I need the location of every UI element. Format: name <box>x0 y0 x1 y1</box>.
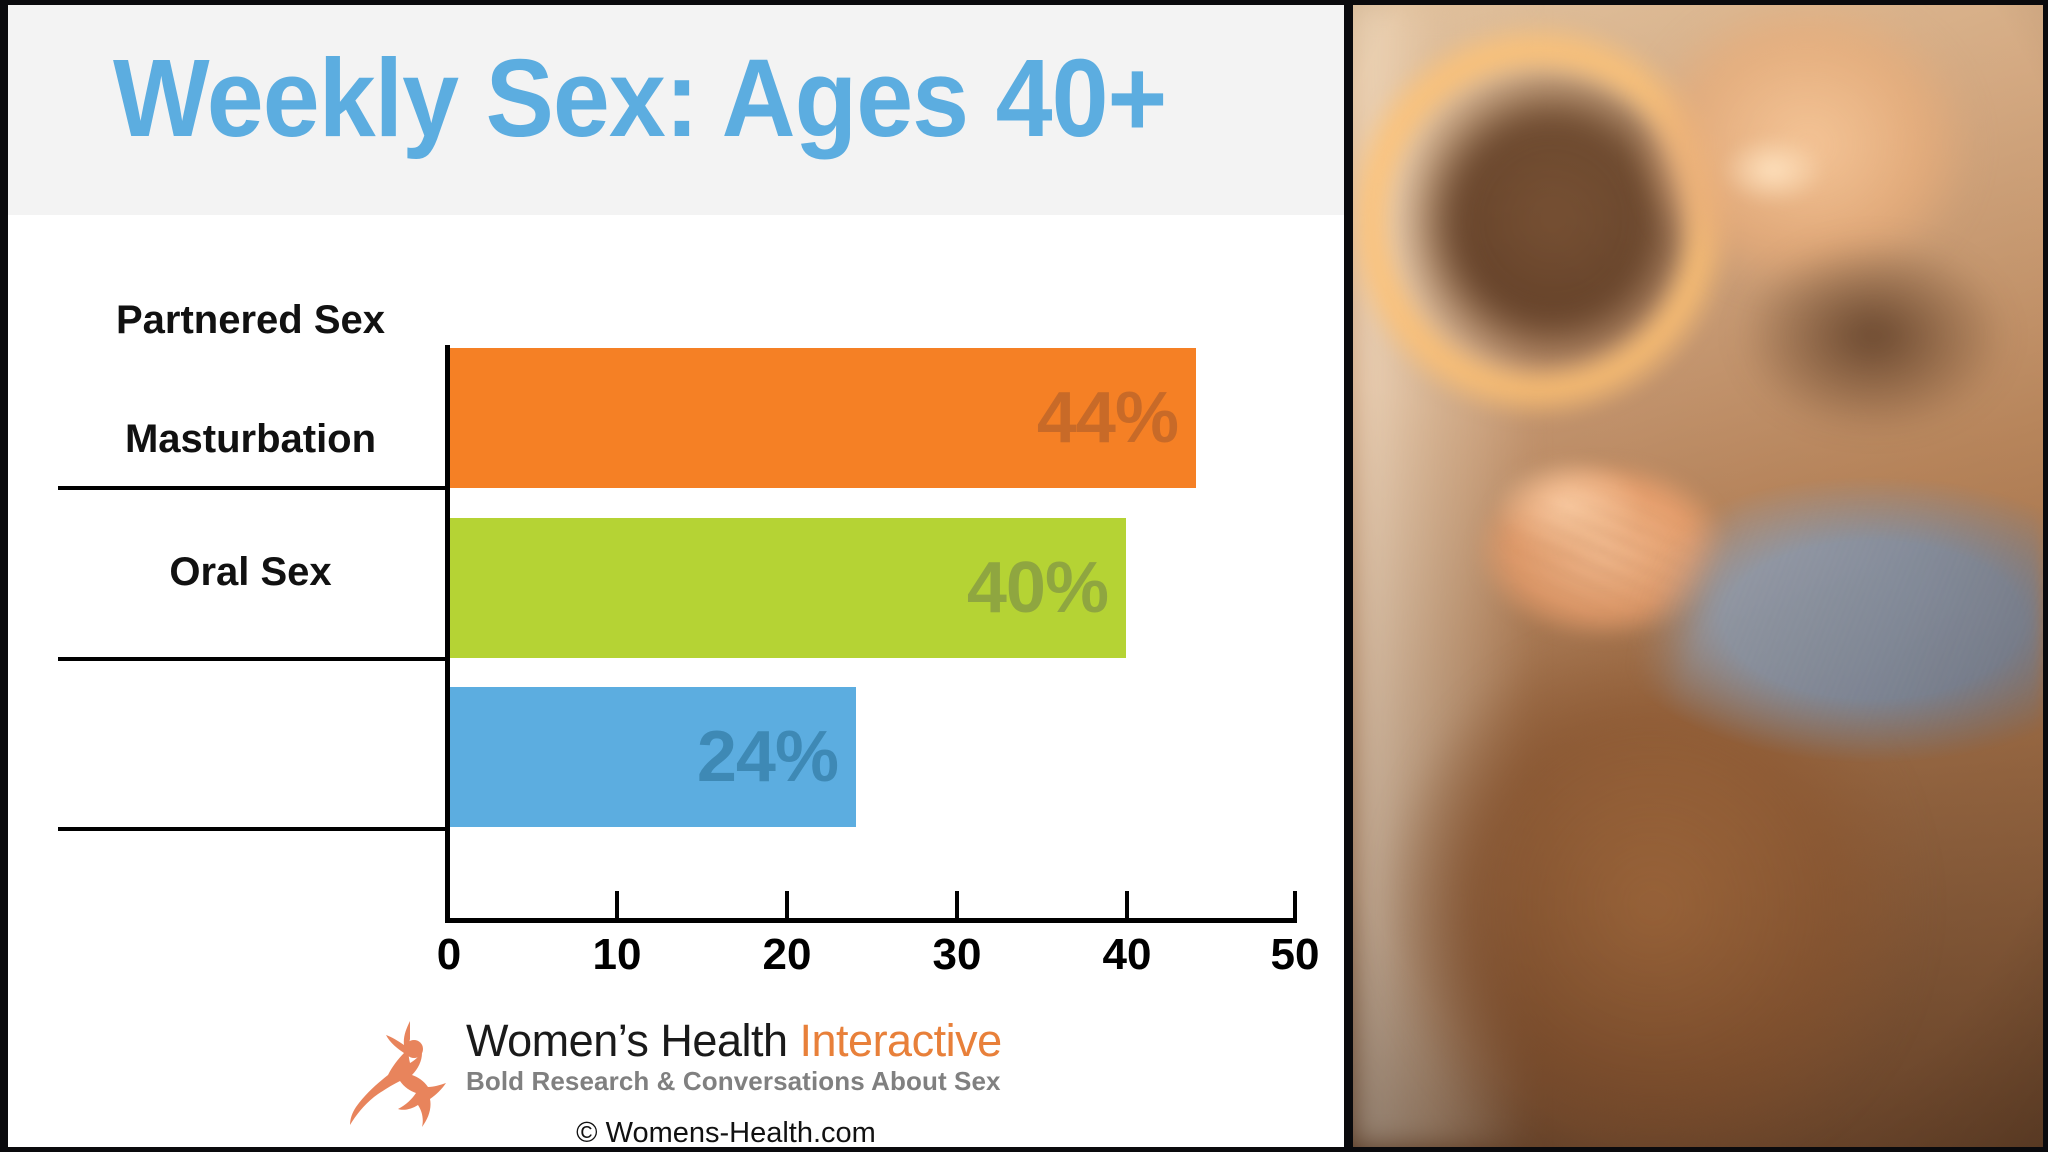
category-label-masturbation: Masturbation <box>58 417 443 462</box>
x-tick-40 <box>1125 891 1129 919</box>
bar-chart: Partnered Sex 44% Masturbation 40% Oral … <box>8 5 1344 1147</box>
x-tick-50 <box>1293 891 1297 921</box>
x-tick-10 <box>615 891 619 919</box>
x-axis-line <box>445 918 1297 923</box>
bar-masturbation[interactable]: 40% <box>448 518 1126 658</box>
copyright-notice: © Womens-Health.com <box>466 1117 986 1147</box>
x-tick-label-10: 10 <box>593 930 642 980</box>
x-tick-20 <box>785 891 789 919</box>
logo-text-wrap: Women’s Health Interactive Bold Research… <box>466 1017 986 1097</box>
x-tick-label-40: 40 <box>1103 930 1152 980</box>
logo-wordmark: Women’s Health Interactive <box>466 1017 986 1064</box>
x-tick-label-20: 20 <box>763 930 812 980</box>
category-label-oral-sex: Oral Sex <box>58 550 443 595</box>
chart-panel: Weekly Sex: Ages 40+ Partnered Sex 44% M… <box>8 5 1344 1147</box>
x-tick-label-30: 30 <box>933 930 982 980</box>
category-label-partnered-sex: Partnered Sex <box>58 298 443 343</box>
x-tick-label-0: 0 <box>437 930 461 980</box>
bar-value-masturbation: 40% <box>967 552 1126 624</box>
infographic-root: Weekly Sex: Ages 40+ Partnered Sex 44% M… <box>0 0 2048 1152</box>
logo-wordmark-accent: Interactive <box>800 1015 1002 1066</box>
bar-value-partnered-sex: 44% <box>1037 382 1196 454</box>
category-separator-2 <box>58 657 448 661</box>
x-tick-30 <box>955 891 959 919</box>
photo-vignette <box>1353 5 2043 1147</box>
couple-embrace-photo <box>1353 5 2043 1147</box>
y-axis-line <box>445 345 450 923</box>
bar-oral-sex[interactable]: 24% <box>448 687 856 827</box>
logo-wordmark-primary: Women’s Health <box>466 1015 788 1066</box>
x-tick-label-50: 50 <box>1271 930 1320 980</box>
category-separator-1 <box>58 486 448 490</box>
bar-partnered-sex[interactable]: 44% <box>448 348 1196 488</box>
site-logo[interactable]: Women’s Health Interactive Bold Research… <box>348 1013 988 1143</box>
womens-health-figure-icon <box>348 1015 460 1133</box>
category-separator-3 <box>58 827 448 831</box>
logo-tagline: Bold Research & Conversations About Sex <box>466 1066 986 1097</box>
bar-value-oral-sex: 24% <box>697 721 856 793</box>
